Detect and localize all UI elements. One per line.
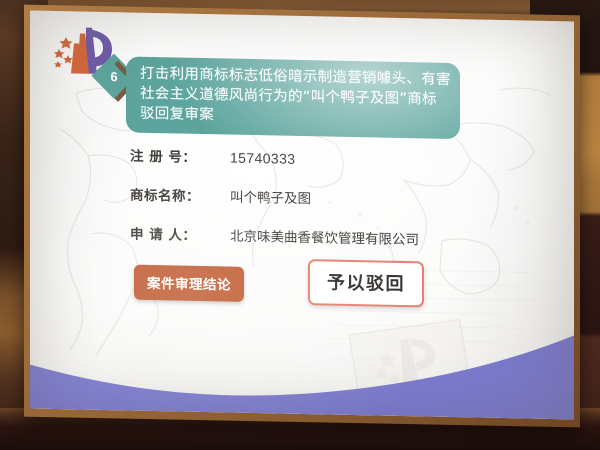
case-conclusion-button[interactable]: 案件审理结论 [134, 265, 244, 302]
detail-row-registration-number: 注 册 号： 15740333 [130, 145, 550, 173]
logo-card-watermark [330, 309, 500, 417]
case-detail-list: 注 册 号： 15740333 商标名称： 叫个鸭子及图 申 请 人： 北京味美… [130, 145, 550, 270]
slide-title-banner: 打击利用商标标志低俗暗示制造营销噱头、有害 社会主义道德风尚行为的“叫个鸭子及图… [126, 56, 460, 139]
room-photo: 6 打击利用商标标志低俗暗示制造营销噱头、有害 社会主义道德风尚行为的“叫个鸭子… [0, 0, 600, 450]
verdict-rejected-button[interactable]: 予以驳回 [308, 259, 424, 307]
detail-value: 15740333 [230, 150, 296, 167]
detail-label: 注 册 号： [130, 145, 214, 167]
detail-value: 叫个鸭子及图 [230, 186, 311, 208]
detail-row-trademark-name: 商标名称： 叫个鸭子及图 [130, 184, 550, 212]
presentation-slide: 6 打击利用商标标志低俗暗示制造营销噱头、有害 社会主义道德风尚行为的“叫个鸭子… [30, 11, 574, 420]
detail-row-applicant: 申 请 人： 北京味美曲香餐饮管理有限公司 [130, 223, 550, 251]
detail-label: 申 请 人： [130, 223, 214, 245]
detail-value: 北京味美曲香餐饮管理有限公司 [230, 225, 419, 249]
bottom-wave [30, 319, 574, 420]
detail-label: 商标名称： [130, 184, 214, 206]
